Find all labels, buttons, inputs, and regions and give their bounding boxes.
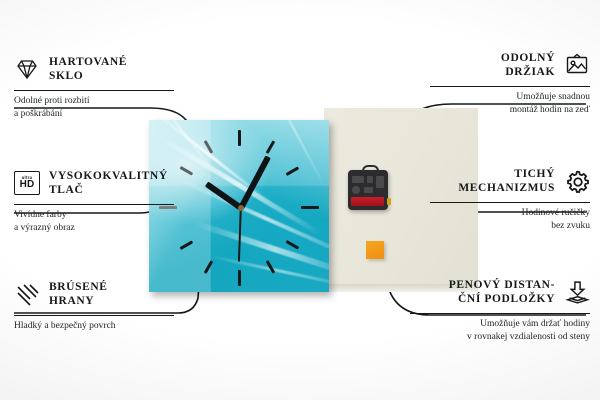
feature-description: Umožňuje vám držať hodiny v rovnakej vzd… (410, 318, 590, 343)
clock-mechanism (348, 170, 388, 210)
arrow-layers-icon (564, 279, 590, 305)
mechanism-detail (352, 186, 360, 194)
feature-title: HARTOVANÉ SKLO (49, 55, 127, 83)
glass-wall-clock (149, 120, 329, 292)
mechanism-detail (376, 176, 384, 188)
foam-spacer-pad (366, 241, 384, 259)
feature-header: ultra HD VYSOKOKVALITNÝ TLAČ (14, 166, 174, 200)
mechanism-detail (352, 176, 364, 183)
ultra-hd-icon-main-text: HD (20, 180, 35, 190)
feature-title: BRÚSENÉ HRANY (49, 280, 108, 308)
divider (14, 315, 174, 316)
diamond-icon (14, 56, 40, 82)
battery (351, 197, 384, 206)
product-photo (142, 108, 478, 292)
feature-title: TICHÝ MECHANIZMUS (458, 167, 555, 195)
gear-icon (564, 168, 590, 194)
feature-durable-mount: ODOLNÝ DRŽIAK Umožňuje snadnou montáž ho… (430, 48, 590, 116)
divider (430, 86, 590, 87)
feature-header: PENOVÝ DISTAN- ČNÍ PODLOŽKY (410, 275, 590, 309)
mechanism-detail (367, 176, 373, 183)
divider (14, 90, 174, 91)
feature-description: Hodinové ručičky bez zvuku (430, 207, 590, 232)
feature-title: PENOVÝ DISTAN- ČNÍ PODLOŽKY (449, 278, 555, 306)
mechanism-hanger-loop (362, 165, 379, 175)
ultra-hd-icon: ultra HD (14, 170, 40, 196)
feature-silent-mechanism: TICHÝ MECHANIZMUS Hodinové ručičky bez z… (430, 164, 590, 232)
diagonal-lines-icon (14, 281, 40, 307)
divider (14, 204, 174, 205)
feature-header: BRÚSENÉ HRANY (14, 277, 174, 311)
feature-description: Hladký a bezpečný povrch (14, 320, 174, 333)
mechanism-detail (364, 187, 373, 193)
feature-foam-spacers: PENOVÝ DISTAN- ČNÍ PODLOŽKY Umožňuje vám… (410, 275, 590, 343)
feature-description: Odolné proti rozbití a poškrábání (14, 95, 174, 120)
feature-high-quality-print: ultra HD VYSOKOKVALITNÝ TLAČ Vivídne far… (14, 166, 174, 234)
divider (430, 202, 590, 203)
picture-frame-hanger-icon (564, 52, 590, 78)
clock-tick (238, 130, 241, 146)
feature-title: ODOLNÝ DRŽIAK (501, 51, 555, 79)
battery-terminal (387, 198, 391, 205)
clock-tick (301, 206, 319, 209)
feature-header: HARTOVANÉ SKLO (14, 52, 174, 86)
feature-description: Vivídne farby a výrazný obraz (14, 209, 174, 234)
clock-center-hub (238, 205, 244, 211)
feature-description: Umožňuje snadnou montáž hodin na zeď (430, 91, 590, 116)
clock-tick (238, 270, 241, 286)
divider (410, 313, 590, 314)
feature-header: TICHÝ MECHANIZMUS (430, 164, 590, 198)
infographic-canvas: HARTOVANÉ SKLO Odolné proti rozbití a po… (0, 0, 600, 400)
feature-ground-edges: BRÚSENÉ HRANY Hladký a bezpečný povrch (14, 277, 174, 333)
feature-title: VYSOKOKVALITNÝ TLAČ (49, 169, 168, 197)
feature-tempered-glass: HARTOVANÉ SKLO Odolné proti rozbití a po… (14, 52, 174, 120)
feature-header: ODOLNÝ DRŽIAK (430, 48, 590, 82)
